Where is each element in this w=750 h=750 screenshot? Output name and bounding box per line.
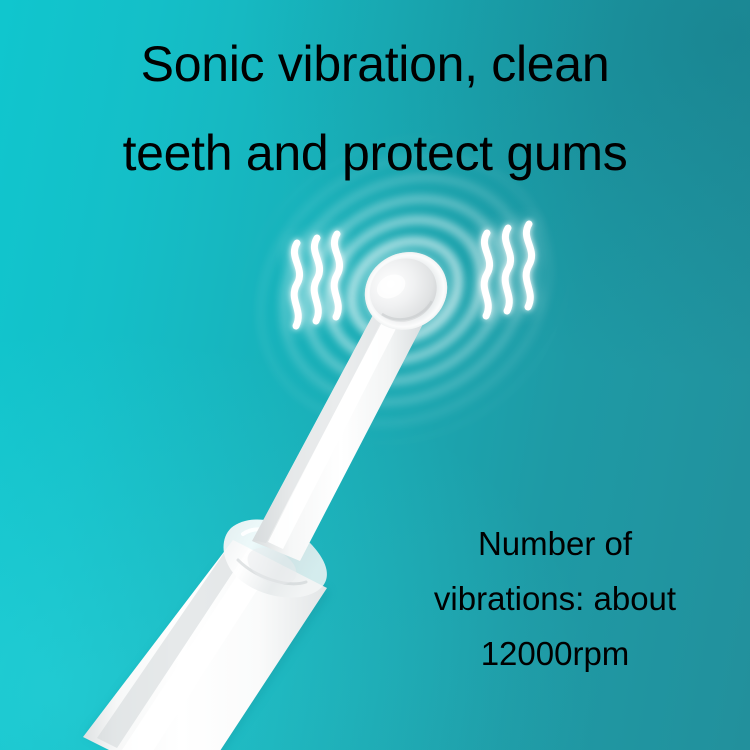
headline-line-1: Sonic vibration, clean — [0, 20, 750, 109]
headline: Sonic vibration, clean teeth and protect… — [0, 20, 750, 198]
product-marketing-image: Sonic vibration, clean teeth and protect… — [0, 0, 750, 750]
headline-line-2: teeth and protect gums — [0, 109, 750, 198]
wave-line-left-group — [294, 234, 339, 326]
wave-line-right-group — [484, 224, 531, 316]
spec-line-1: Number of — [375, 516, 735, 571]
spec-line-3: 12000rpm — [375, 626, 735, 681]
spec-line-2: vibrations: about — [375, 571, 735, 626]
spec-text: Number of vibrations: about 12000rpm — [375, 516, 735, 681]
